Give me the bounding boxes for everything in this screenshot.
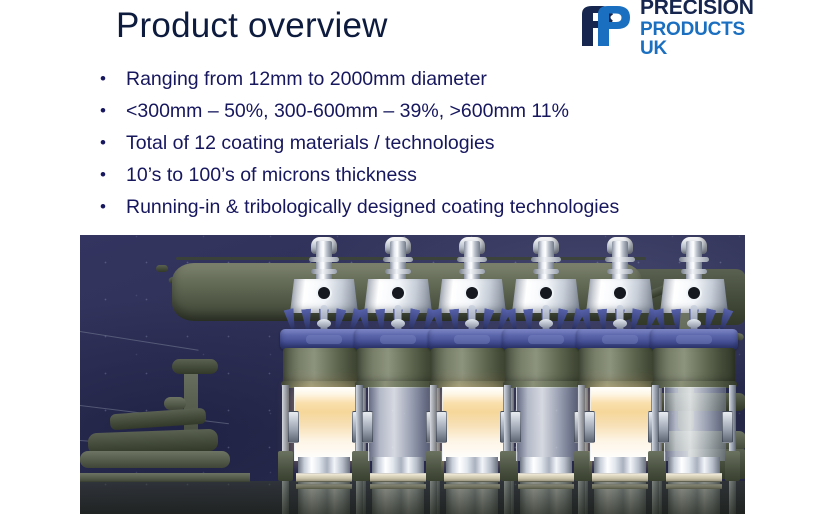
- list-item-label: Total of 12 coating materials / technolo…: [126, 130, 740, 156]
- unit-view-port: [466, 287, 478, 299]
- unit-foot: [278, 451, 293, 481]
- page-title: Product overview: [116, 4, 388, 48]
- unit-clamp: [288, 411, 299, 443]
- slide: Product overview PRECISION PRODUCTS UK •…: [0, 0, 830, 514]
- unit-neck-ring: [679, 257, 709, 262]
- unit-neck-ring: [681, 269, 707, 274]
- list-item-label: 10’s to 100’s of microns thickness: [126, 162, 740, 188]
- unit-view-port: [540, 287, 552, 299]
- unit-center-knob: [317, 319, 331, 328]
- unit-foot: [725, 451, 740, 481]
- unit-neck-ring: [533, 269, 559, 274]
- list-item: • Running-in & tribologically designed c…: [100, 194, 740, 226]
- bullet-marker-icon: •: [100, 162, 126, 188]
- unit-process-cylinder: [442, 387, 504, 461]
- list-item-label: Running-in & tribologically designed coa…: [126, 194, 740, 220]
- unit-foot: [648, 451, 663, 481]
- unit-view-port: [392, 287, 404, 299]
- bullet-list: • Ranging from 12mm to 2000mm diameter •…: [100, 66, 740, 226]
- unit-view-port: [614, 287, 626, 299]
- plant-deck: [80, 481, 745, 514]
- list-item-label: Ranging from 12mm to 2000mm diameter: [126, 66, 740, 92]
- unit-neck-ring: [385, 269, 411, 274]
- unit-center-knob: [539, 319, 553, 328]
- logo-line-products-uk: PRODUCTS UK: [640, 20, 754, 58]
- unit-clamp: [510, 411, 521, 443]
- unit-foot: [352, 451, 367, 481]
- double-p-monogram-icon: [578, 4, 634, 48]
- bullet-marker-icon: •: [100, 130, 126, 156]
- unit-process-cylinder: [294, 387, 356, 461]
- list-item: • <300mm – 50%, 300-600mm – 39%, >600mm …: [100, 98, 740, 130]
- bullet-marker-icon: •: [100, 98, 126, 124]
- unit-clamp: [436, 411, 447, 443]
- unit-neck-ring: [607, 269, 633, 274]
- unit-view-port: [688, 287, 700, 299]
- list-item: • Total of 12 coating materials / techno…: [100, 130, 740, 162]
- unit-clamp: [722, 411, 733, 443]
- unit-process-cylinder: [368, 387, 430, 461]
- bullet-marker-icon: •: [100, 194, 126, 220]
- unit-clamp: [584, 411, 595, 443]
- unit-process-cylinder: [664, 387, 726, 461]
- unit-view-port: [318, 287, 330, 299]
- unit-center-knob: [391, 319, 405, 328]
- unit-neck-ring: [457, 257, 487, 262]
- unit-center-knob: [613, 319, 627, 328]
- unit-neck-ring: [311, 269, 337, 274]
- unit-foot: [574, 451, 589, 481]
- list-item: • Ranging from 12mm to 2000mm diameter: [100, 66, 740, 98]
- logo-wordmark: PRECISION PRODUCTS UK: [640, 0, 754, 58]
- unit-foot: [426, 451, 441, 481]
- list-item: • 10’s to 100’s of microns thickness: [100, 162, 740, 194]
- precision-products-uk-logo: PRECISION PRODUCTS UK: [578, 3, 746, 49]
- unit-neck-ring: [459, 269, 485, 274]
- unit-neck-ring: [309, 257, 339, 262]
- unit-clamp: [362, 411, 373, 443]
- unit-neck-ring: [383, 257, 413, 262]
- unit-foot: [500, 451, 515, 481]
- unit-process-cylinder: [590, 387, 652, 461]
- unit-process-cylinder: [516, 387, 578, 461]
- list-item-label: <300mm – 50%, 300-600mm – 39%, >600mm 11…: [126, 98, 740, 124]
- unit-neck-ring: [531, 257, 561, 262]
- unit-neck-ring: [605, 257, 635, 262]
- unit-blue-collar: [650, 329, 738, 350]
- chamber-unit: [646, 235, 742, 514]
- bullet-marker-icon: •: [100, 66, 126, 92]
- unit-center-knob: [687, 319, 701, 328]
- unit-center-knob: [465, 319, 479, 328]
- coating-plant-photograph: [80, 235, 745, 514]
- logo-line-precision: PRECISION: [640, 0, 754, 18]
- unit-clamp: [658, 411, 669, 443]
